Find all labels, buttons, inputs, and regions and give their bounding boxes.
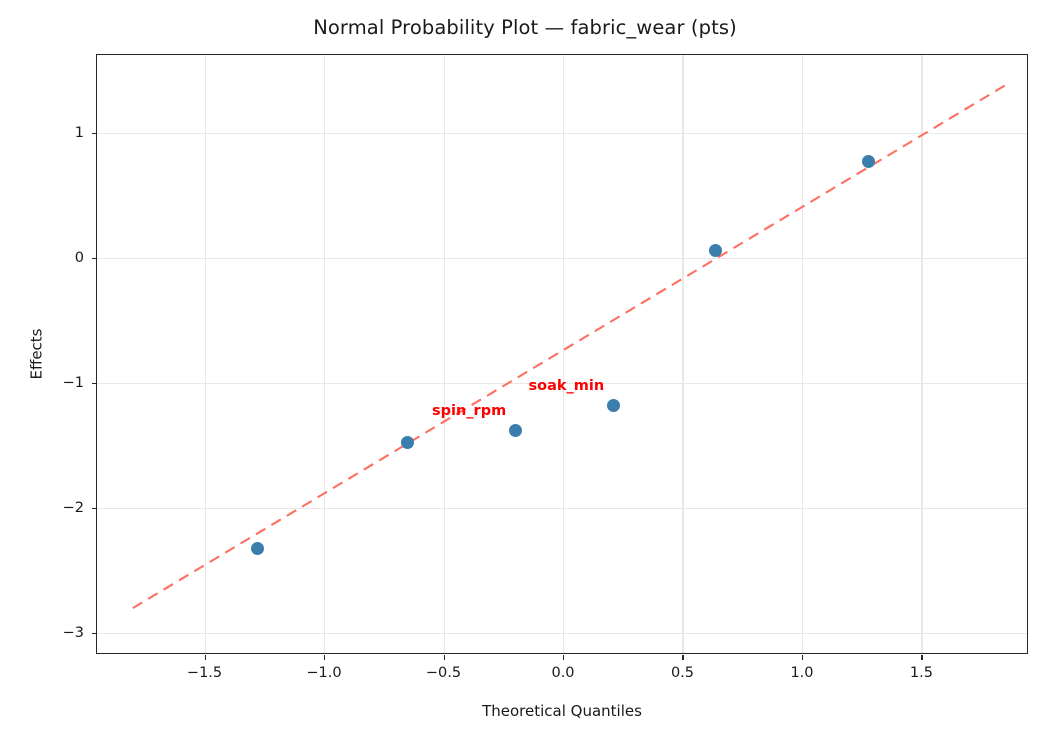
x-tick-label: 1.0 <box>790 665 813 681</box>
data-point[interactable] <box>862 155 875 168</box>
x-tick-label: 1.5 <box>910 665 933 681</box>
x-tick-label: −1.5 <box>187 665 222 681</box>
x-tick-label: 0.0 <box>551 665 574 681</box>
page-title: Normal Probability Plot — fabric_wear (p… <box>0 16 1050 39</box>
y-tick-mark <box>92 133 97 134</box>
point-annotation-spin_rpm: spin_rpm <box>432 403 506 419</box>
y-tick-label: −2 <box>63 500 84 516</box>
data-point[interactable] <box>709 244 722 257</box>
data-point[interactable] <box>251 542 264 555</box>
data-point[interactable] <box>607 399 620 412</box>
x-tick-mark <box>205 655 206 660</box>
x-tick-mark <box>921 655 922 660</box>
x-axis-label: Theoretical Quantiles <box>96 702 1028 720</box>
x-tick-label: −0.5 <box>426 665 461 681</box>
x-tick-label: 0.5 <box>671 665 694 681</box>
x-tick-mark <box>444 655 445 660</box>
x-tick-label: −1.0 <box>306 665 341 681</box>
y-tick-label: −3 <box>63 625 84 641</box>
plot-area: spin_rpmsoak_min −1.5−1.0−0.50.00.51.01.… <box>96 54 1028 654</box>
x-tick-mark <box>324 655 325 660</box>
y-tick-label: 0 <box>75 250 84 266</box>
y-tick-label: 1 <box>75 125 84 141</box>
normal-probability-plot-figure: Normal Probability Plot — fabric_wear (p… <box>0 0 1050 750</box>
y-tick-mark <box>92 633 97 634</box>
data-points-layer: spin_rpmsoak_min <box>97 55 1027 653</box>
y-tick-mark <box>92 258 97 259</box>
point-annotation-soak_min: soak_min <box>529 378 605 394</box>
y-tick-mark <box>92 383 97 384</box>
x-tick-mark <box>682 655 683 660</box>
data-point[interactable] <box>401 436 414 449</box>
y-axis-label: Effects <box>27 329 45 380</box>
x-tick-mark <box>802 655 803 660</box>
data-point[interactable] <box>509 424 522 437</box>
y-tick-mark <box>92 508 97 509</box>
x-tick-mark <box>563 655 564 660</box>
y-tick-label: −1 <box>63 375 84 391</box>
